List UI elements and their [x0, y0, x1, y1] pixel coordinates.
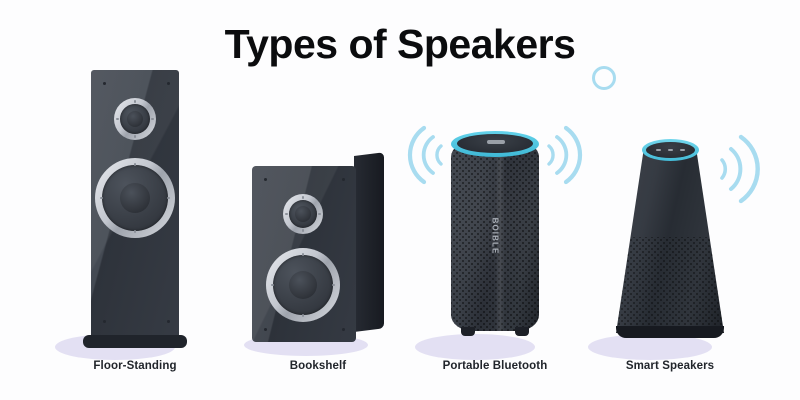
speaker-cylinder-body: BOIBLE [451, 141, 539, 331]
top-indicator-dash [668, 149, 673, 151]
sound-wave-right-icon [545, 120, 591, 190]
speaker-card-bookshelf: Bookshelf [228, 60, 408, 372]
cabinet-screw [264, 178, 267, 181]
driver-screw [302, 229, 305, 232]
smart-speaker-illustration [580, 60, 760, 360]
driver-dome [295, 206, 311, 222]
speaker-label-floor-standing: Floor-Standing [45, 360, 225, 372]
tweeter-driver [114, 98, 156, 140]
floor-standing-speaker-icon [83, 70, 187, 348]
woofer-driver [266, 248, 340, 322]
driver-screw [134, 135, 137, 138]
driver-screw [302, 314, 305, 317]
speaker-foot [515, 327, 529, 336]
speaker-base [616, 326, 724, 338]
speaker-card-floor-standing: Floor-Standing [45, 60, 225, 372]
speaker-label-portable-bluetooth: Portable Bluetooth [405, 360, 585, 372]
driver-screw [100, 197, 103, 200]
driver-dome [289, 271, 317, 299]
sound-wave-left-icon [399, 120, 445, 190]
top-indicator-dash [656, 149, 661, 151]
speaker-tapered-body [616, 147, 724, 333]
cabinet-screw [167, 320, 170, 323]
driver-screw [302, 253, 305, 256]
mesh-texture [616, 237, 724, 333]
cabinet-screw [264, 328, 267, 331]
decorative-ring-icon [592, 66, 616, 90]
speaker-foot [461, 327, 475, 336]
driver-screw [134, 163, 137, 166]
driver-dome [120, 183, 150, 213]
brand-text: BOIBLE [491, 218, 500, 255]
portable-bluetooth-speaker-icon: BOIBLE [443, 123, 547, 338]
woofer-driver [95, 158, 175, 238]
bookshelf-illustration [228, 60, 408, 360]
driver-screw [332, 284, 335, 287]
driver-screw [134, 230, 137, 233]
top-indicator-dash [680, 149, 685, 151]
cabinet-side-panel [354, 152, 384, 332]
cabinet-screw [342, 178, 345, 181]
cabinet-screw [103, 320, 106, 323]
portable-bluetooth-illustration: BOIBLE [405, 60, 585, 360]
sound-wave-right-icon [718, 128, 764, 210]
speaker-types-infographic: Types of Speakers [0, 0, 800, 400]
cabinet-screw [103, 82, 106, 85]
driver-screw [318, 213, 321, 216]
speaker-label-smart-speakers: Smart Speakers [580, 360, 760, 372]
floor-standing-illustration [45, 60, 225, 360]
driver-screw [167, 197, 170, 200]
speaker-card-smart-speakers: Smart Speakers [580, 60, 760, 372]
speaker-label-bookshelf: Bookshelf [228, 360, 408, 372]
cabinet-screw [342, 328, 345, 331]
smart-speaker-icon [616, 133, 724, 338]
tweeter-driver [283, 194, 323, 234]
page-title: Types of Speakers [0, 24, 800, 65]
speaker-card-portable-bluetooth: BOIBLE Portable Bluetooth [405, 60, 585, 372]
driver-screw [151, 118, 154, 121]
top-control-button[interactable] [487, 140, 505, 144]
driver-screw [271, 284, 274, 287]
driver-dome [127, 111, 143, 127]
bookshelf-speaker-icon [252, 156, 384, 342]
tower-base-plate [83, 335, 187, 348]
cabinet-screw [167, 82, 170, 85]
